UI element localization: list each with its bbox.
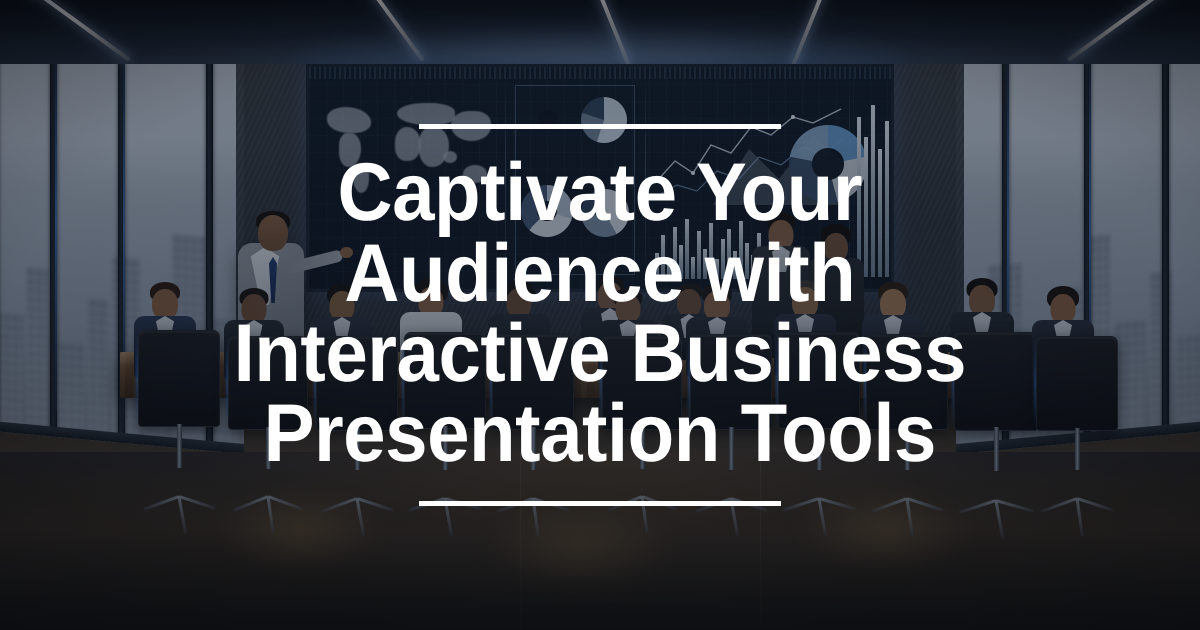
title-line-1: Captivate Your bbox=[234, 153, 966, 233]
title-line-3: Interactive Business bbox=[234, 314, 966, 394]
hero-banner: Captivate Your Audience with Interactive… bbox=[0, 0, 1200, 630]
title-line-4: Presentation Tools bbox=[234, 394, 966, 474]
text-overlay: Captivate Your Audience with Interactive… bbox=[0, 0, 1200, 630]
divider-rule-top bbox=[419, 124, 781, 129]
divider-rule-bottom bbox=[419, 501, 781, 506]
page-title: Captivate Your Audience with Interactive… bbox=[234, 153, 966, 474]
title-line-2: Audience with bbox=[234, 234, 966, 314]
